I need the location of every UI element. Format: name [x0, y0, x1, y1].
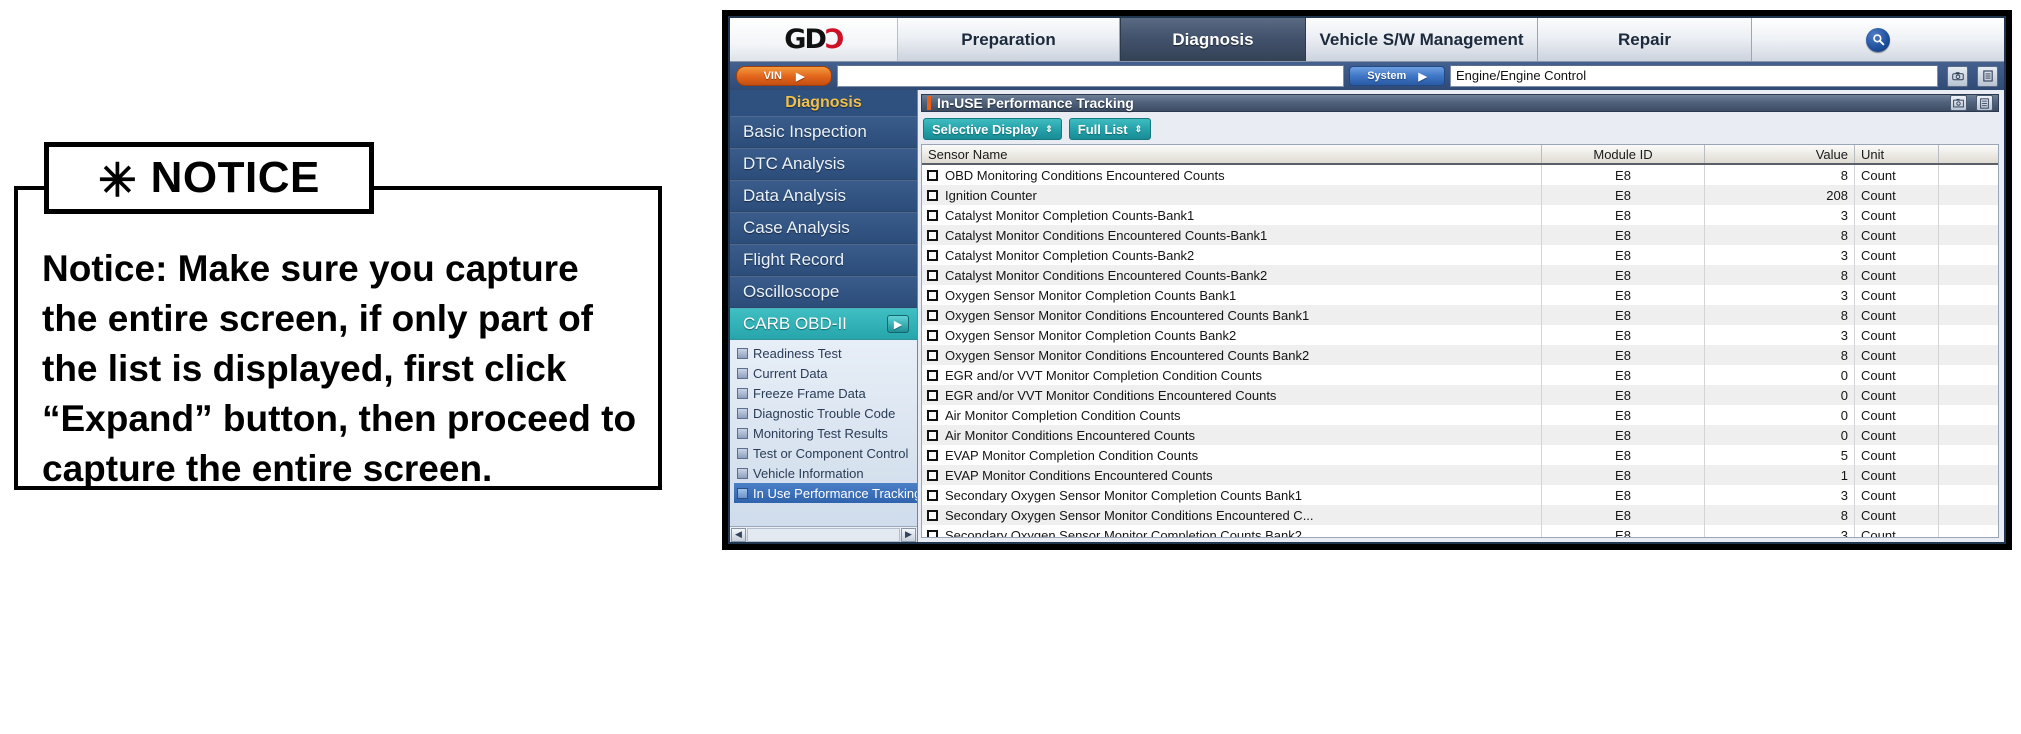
- row-checkbox[interactable]: [927, 170, 938, 181]
- sidebar-item-flight-record[interactable]: Flight Record: [730, 244, 917, 276]
- search-icon: [1866, 28, 1890, 52]
- table-row[interactable]: EGR and/or VVT Monitor Completion Condit…: [922, 365, 1998, 385]
- cell-sensor-name: Air Monitor Conditions Encountered Count…: [922, 425, 1542, 445]
- cell-unit: Count: [1855, 185, 1939, 205]
- sensor-name-label: Catalyst Monitor Conditions Encountered …: [945, 268, 1267, 283]
- table-row[interactable]: EGR and/or VVT Monitor Conditions Encoun…: [922, 385, 1998, 405]
- table-row[interactable]: Oxygen Sensor Monitor Completion Counts …: [922, 285, 1998, 305]
- sidebar-item-dtc-analysis[interactable]: DTC Analysis: [730, 148, 917, 180]
- cell-module-id: E8: [1542, 225, 1705, 245]
- table-row[interactable]: Catalyst Monitor Conditions Encountered …: [922, 265, 1998, 285]
- cell-unit: Count: [1855, 205, 1939, 225]
- cell-module-id: E8: [1542, 165, 1705, 185]
- row-checkbox[interactable]: [927, 210, 938, 221]
- cell-extra: [1939, 465, 1998, 485]
- cell-value: 3: [1705, 285, 1855, 305]
- table-row[interactable]: Air Monitor Conditions Encountered Count…: [922, 425, 1998, 445]
- vin-button-label: VIN: [764, 70, 782, 82]
- row-checkbox[interactable]: [927, 410, 938, 421]
- sidebar-subitem-label: Test or Component Control: [753, 446, 908, 461]
- sidebar-subitem-in-use-performance-tracking[interactable]: In Use Performance Tracking: [734, 483, 917, 503]
- cell-extra: [1939, 325, 1998, 345]
- notice-text: Notice: Make sure you capture the entire…: [42, 244, 642, 494]
- full-list-label: Full List: [1078, 122, 1128, 137]
- cell-value: 3: [1705, 245, 1855, 265]
- cell-module-id: E8: [1542, 345, 1705, 365]
- cell-sensor-name: Catalyst Monitor Conditions Encountered …: [922, 265, 1542, 285]
- cell-extra: [1939, 245, 1998, 265]
- cell-module-id: E8: [1542, 305, 1705, 325]
- cell-extra: [1939, 225, 1998, 245]
- cell-value: 3: [1705, 525, 1855, 537]
- sidebar-subitem-label: Readiness Test: [753, 346, 842, 361]
- tab-vehicle-sw-management[interactable]: Vehicle S/W Management: [1306, 18, 1538, 61]
- sidebar-item-case-analysis[interactable]: Case Analysis: [730, 212, 917, 244]
- scroll-right-icon[interactable]: ▶: [901, 528, 916, 542]
- cell-module-id: E8: [1542, 205, 1705, 225]
- cell-extra: [1939, 165, 1998, 185]
- cell-value: 8: [1705, 265, 1855, 285]
- row-checkbox[interactable]: [927, 270, 938, 281]
- table-row[interactable]: Catalyst Monitor Conditions Encountered …: [922, 225, 1998, 245]
- cell-unit: Count: [1855, 285, 1939, 305]
- cell-module-id: E8: [1542, 505, 1705, 525]
- scrollbar-track[interactable]: [747, 528, 900, 542]
- notice-callout: ✳ NOTICE Notice: Make sure you capture t…: [14, 186, 662, 490]
- cell-value: 3: [1705, 485, 1855, 505]
- cell-module-id: E8: [1542, 265, 1705, 285]
- asterisk-icon: ✳: [98, 160, 137, 200]
- sidebar-subitem-label: In Use Performance Tracking: [753, 486, 917, 501]
- sensor-name-label: Oxygen Sensor Monitor Completion Counts …: [945, 288, 1236, 303]
- sidebar-item-basic-inspection[interactable]: Basic Inspection: [730, 116, 917, 148]
- table-row[interactable]: Ignition CounterE8208Count: [922, 185, 1998, 205]
- cell-sensor-name: EVAP Monitor Conditions Encountered Coun…: [922, 465, 1542, 485]
- table-body: OBD Monitoring Conditions Encountered Co…: [922, 165, 1998, 537]
- cell-unit: Count: [1855, 505, 1939, 525]
- row-checkbox[interactable]: [927, 330, 938, 341]
- cell-value: 8: [1705, 505, 1855, 525]
- cell-sensor-name: EGR and/or VVT Monitor Conditions Encoun…: [922, 385, 1542, 405]
- cell-module-id: E8: [1542, 325, 1705, 345]
- sidebar-subitem-label: Diagnostic Trouble Code: [753, 406, 895, 421]
- cell-unit: Count: [1855, 385, 1939, 405]
- cell-unit: Count: [1855, 365, 1939, 385]
- cell-module-id: E8: [1542, 245, 1705, 265]
- row-checkbox[interactable]: [927, 510, 938, 521]
- cell-sensor-name: Oxygen Sensor Monitor Completion Counts …: [922, 285, 1542, 305]
- row-checkbox[interactable]: [927, 490, 938, 501]
- chevron-right-icon: ▶: [1418, 70, 1426, 83]
- sensor-name-label: Ignition Counter: [945, 188, 1037, 203]
- vin-system-bar: VIN ▶ System ▶ Engine/Engine Control: [730, 62, 2004, 90]
- sidebar-subitem-vehicle-information[interactable]: Vehicle Information: [734, 463, 917, 483]
- column-header-unit[interactable]: Unit: [1855, 145, 1939, 163]
- cell-unit: Count: [1855, 165, 1939, 185]
- cell-extra: [1939, 485, 1998, 505]
- sensor-name-label: OBD Monitoring Conditions Encountered Co…: [945, 168, 1225, 183]
- full-list-button[interactable]: Full List ⇕: [1069, 118, 1151, 140]
- cell-sensor-name: EGR and/or VVT Monitor Completion Condit…: [922, 365, 1542, 385]
- cell-sensor-name: Ignition Counter: [922, 185, 1542, 205]
- list-icon[interactable]: [1976, 95, 1993, 111]
- cell-value: 3: [1705, 325, 1855, 345]
- row-checkbox[interactable]: [927, 350, 938, 361]
- scroll-left-icon[interactable]: ◀: [731, 528, 746, 542]
- sidebar-item-carb-obd-ii[interactable]: CARB OBD-II ▶: [730, 308, 917, 340]
- cell-extra: [1939, 405, 1998, 425]
- stepper-icon: ⇕: [1135, 125, 1143, 134]
- cell-unit: Count: [1855, 325, 1939, 345]
- cell-extra: [1939, 305, 1998, 325]
- cell-unit: Count: [1855, 305, 1939, 325]
- row-checkbox[interactable]: [927, 310, 938, 321]
- cell-value: 8: [1705, 305, 1855, 325]
- snapshot-icon[interactable]: [1950, 95, 1967, 111]
- sensor-name-label: Catalyst Monitor Completion Counts-Bank2: [945, 248, 1194, 263]
- camera-icon[interactable]: [1947, 66, 1968, 87]
- cell-extra: [1939, 205, 1998, 225]
- table-row[interactable]: Catalyst Monitor Completion Counts-Bank1…: [922, 205, 1998, 225]
- cell-value: 0: [1705, 385, 1855, 405]
- sidebar-subitem-freeze-frame-data[interactable]: Freeze Frame Data: [734, 383, 917, 403]
- cell-module-id: E8: [1542, 185, 1705, 205]
- sidebar-subitem-label: Freeze Frame Data: [753, 386, 866, 401]
- panel-title: In-USE Performance Tracking: [937, 95, 1134, 111]
- sensor-name-label: Catalyst Monitor Completion Counts-Bank1: [945, 208, 1194, 223]
- table-row[interactable]: Oxygen Sensor Monitor Conditions Encount…: [922, 305, 1998, 325]
- row-checkbox[interactable]: [927, 470, 938, 481]
- row-checkbox[interactable]: [927, 450, 938, 461]
- cell-unit: Count: [1855, 525, 1939, 537]
- cell-extra: [1939, 285, 1998, 305]
- sidebar-subitem-test-or-component-control[interactable]: Test or Component Control: [734, 443, 917, 463]
- sensor-name-label: Oxygen Sensor Monitor Conditions Encount…: [945, 308, 1309, 323]
- notice-title: NOTICE: [151, 153, 320, 203]
- cell-module-id: E8: [1542, 525, 1705, 537]
- sensor-name-label: Catalyst Monitor Conditions Encountered …: [945, 228, 1267, 243]
- cell-module-id: E8: [1542, 425, 1705, 445]
- app-tab-bar: GDƆ Preparation Diagnosis Vehicle S/W Ma…: [730, 18, 2004, 62]
- sidebar-subitem-label: Current Data: [753, 366, 827, 381]
- cell-value: 8: [1705, 345, 1855, 365]
- cell-extra: [1939, 345, 1998, 365]
- cell-extra: [1939, 525, 1998, 537]
- system-button[interactable]: System ▶: [1349, 66, 1445, 86]
- table-row[interactable]: Oxygen Sensor Monitor Conditions Encount…: [922, 345, 1998, 365]
- gds-logo: GDƆ: [730, 18, 898, 61]
- table-row[interactable]: OBD Monitoring Conditions Encountered Co…: [922, 165, 1998, 185]
- cell-module-id: E8: [1542, 385, 1705, 405]
- cell-module-id: E8: [1542, 405, 1705, 425]
- page-icon: [737, 448, 748, 459]
- sensor-name-label: EGR and/or VVT Monitor Completion Condit…: [945, 368, 1262, 383]
- cell-unit: Count: [1855, 265, 1939, 285]
- sidebar: Diagnosis Basic Inspection DTC Analysis …: [730, 90, 918, 542]
- table-row[interactable]: EVAP Monitor Completion Condition Counts…: [922, 445, 1998, 465]
- tab-diagnosis[interactable]: Diagnosis: [1120, 18, 1306, 61]
- sidebar-item-data-analysis[interactable]: Data Analysis: [730, 180, 917, 212]
- sidebar-title: Diagnosis: [730, 90, 917, 116]
- column-header-sensor-name[interactable]: Sensor Name: [922, 145, 1542, 163]
- logo-accent: Ɔ: [825, 24, 843, 55]
- cell-value: 3: [1705, 205, 1855, 225]
- cell-value: 1: [1705, 465, 1855, 485]
- stepper-icon: ⇕: [1045, 125, 1053, 134]
- page-icon: [737, 408, 748, 419]
- sensor-name-label: Secondary Oxygen Sensor Monitor Conditio…: [945, 508, 1314, 523]
- page-icon: [737, 428, 748, 439]
- cell-module-id: E8: [1542, 465, 1705, 485]
- logo-text: GD: [784, 24, 825, 55]
- row-checkbox[interactable]: [927, 230, 938, 241]
- column-header-value[interactable]: Value: [1705, 145, 1855, 163]
- cell-sensor-name: OBD Monitoring Conditions Encountered Co…: [922, 165, 1542, 185]
- cell-extra: [1939, 185, 1998, 205]
- row-checkbox[interactable]: [927, 290, 938, 301]
- cell-unit: Count: [1855, 465, 1939, 485]
- cell-sensor-name: EVAP Monitor Completion Condition Counts: [922, 445, 1542, 465]
- cell-sensor-name: Secondary Oxygen Sensor Monitor Conditio…: [922, 505, 1542, 525]
- cell-unit: Count: [1855, 225, 1939, 245]
- sensor-name-label: Secondary Oxygen Sensor Monitor Completi…: [945, 488, 1302, 503]
- table-row[interactable]: Oxygen Sensor Monitor Completion Counts …: [922, 325, 1998, 345]
- sensor-name-label: EGR and/or VVT Monitor Conditions Encoun…: [945, 388, 1276, 403]
- cell-unit: Count: [1855, 425, 1939, 445]
- sensor-name-label: EVAP Monitor Conditions Encountered Coun…: [945, 468, 1213, 483]
- main-panel: In-USE Performance Tracking: [918, 90, 2004, 542]
- cell-sensor-name: Catalyst Monitor Conditions Encountered …: [922, 225, 1542, 245]
- selective-display-label: Selective Display: [932, 122, 1038, 137]
- table-row[interactable]: Air Monitor Completion Condition CountsE…: [922, 405, 1998, 425]
- sidebar-subitem-label: Vehicle Information: [753, 466, 864, 481]
- sensor-name-label: Secondary Oxygen Sensor Monitor Completi…: [945, 528, 1302, 538]
- cell-value: 8: [1705, 225, 1855, 245]
- cell-module-id: E8: [1542, 285, 1705, 305]
- vin-button[interactable]: VIN ▶: [736, 66, 832, 86]
- row-checkbox[interactable]: [927, 390, 938, 401]
- vin-input[interactable]: [837, 65, 1344, 87]
- cell-sensor-name: Air Monitor Completion Condition Counts: [922, 405, 1542, 425]
- cell-unit: Count: [1855, 445, 1939, 465]
- cell-sensor-name: Secondary Oxygen Sensor Monitor Completi…: [922, 485, 1542, 505]
- system-button-label: System: [1367, 70, 1406, 82]
- row-checkbox[interactable]: [927, 190, 938, 201]
- tab-preparation[interactable]: Preparation: [898, 18, 1120, 61]
- cell-value: 0: [1705, 405, 1855, 425]
- column-header-extra[interactable]: [1939, 145, 1998, 163]
- system-input[interactable]: Engine/Engine Control: [1450, 65, 1938, 87]
- page-icon: [737, 368, 748, 379]
- page-icon: [737, 388, 748, 399]
- cell-extra: [1939, 425, 1998, 445]
- cell-sensor-name: Secondary Oxygen Sensor Monitor Completi…: [922, 525, 1542, 537]
- row-checkbox[interactable]: [927, 530, 938, 538]
- sidebar-subitem-label: Monitoring Test Results: [753, 426, 888, 441]
- cell-module-id: E8: [1542, 445, 1705, 465]
- sidebar-item-label: CARB OBD-II: [743, 314, 847, 334]
- cell-extra: [1939, 445, 1998, 465]
- table-row[interactable]: Secondary Oxygen Sensor Monitor Conditio…: [922, 505, 1998, 525]
- cell-value: 208: [1705, 185, 1855, 205]
- selective-display-button[interactable]: Selective Display ⇕: [923, 118, 1062, 140]
- cell-value: 5: [1705, 445, 1855, 465]
- sidebar-subitem-readiness-test[interactable]: Readiness Test: [734, 343, 917, 363]
- sensor-name-label: Air Monitor Completion Condition Counts: [945, 408, 1181, 423]
- cell-extra: [1939, 385, 1998, 405]
- cell-module-id: E8: [1542, 485, 1705, 505]
- tab-search[interactable]: [1752, 18, 2004, 61]
- cell-extra: [1939, 505, 1998, 525]
- table-row[interactable]: EVAP Monitor Conditions Encountered Coun…: [922, 465, 1998, 485]
- sidebar-subitem-monitoring-test-results[interactable]: Monitoring Test Results: [734, 423, 917, 443]
- cell-sensor-name: Oxygen Sensor Monitor Conditions Encount…: [922, 305, 1542, 325]
- sensor-name-label: Oxygen Sensor Monitor Completion Counts …: [945, 328, 1236, 343]
- cell-module-id: E8: [1542, 365, 1705, 385]
- cell-sensor-name: Catalyst Monitor Completion Counts-Bank2: [922, 245, 1542, 265]
- tab-repair[interactable]: Repair: [1538, 18, 1752, 61]
- cell-sensor-name: Oxygen Sensor Monitor Completion Counts …: [922, 325, 1542, 345]
- sidebar-subitem-current-data[interactable]: Current Data: [734, 363, 917, 383]
- sensor-name-label: Air Monitor Conditions Encountered Count…: [945, 428, 1195, 443]
- cell-value: 0: [1705, 365, 1855, 385]
- sensor-table: Sensor Name Module ID Value Unit OBD Mon…: [921, 144, 1999, 538]
- app-body: Diagnosis Basic Inspection DTC Analysis …: [730, 90, 2004, 542]
- sidebar-subitem-diagnostic-trouble-code[interactable]: Diagnostic Trouble Code: [734, 403, 917, 423]
- cell-unit: Count: [1855, 485, 1939, 505]
- cell-unit: Count: [1855, 345, 1939, 365]
- row-checkbox[interactable]: [927, 250, 938, 261]
- table-header-row: Sensor Name Module ID Value Unit: [922, 145, 1998, 165]
- sensor-name-label: EVAP Monitor Completion Condition Counts: [945, 448, 1198, 463]
- row-checkbox[interactable]: [927, 370, 938, 381]
- notice-title-box: ✳ NOTICE: [44, 142, 374, 214]
- row-checkbox[interactable]: [927, 430, 938, 441]
- sidebar-horizontal-scrollbar[interactable]: ◀ ▶: [730, 526, 917, 542]
- cell-value: 8: [1705, 165, 1855, 185]
- panel-header: In-USE Performance Tracking: [921, 94, 1999, 112]
- gds-screenshot-window: GDƆ Preparation Diagnosis Vehicle S/W Ma…: [722, 10, 2012, 550]
- page-icon: [737, 348, 748, 359]
- cell-unit: Count: [1855, 405, 1939, 425]
- panel-accent-bar: [927, 96, 931, 110]
- cell-unit: Count: [1855, 245, 1939, 265]
- page-icon: [737, 468, 748, 479]
- table-row[interactable]: Catalyst Monitor Completion Counts-Bank2…: [922, 245, 1998, 265]
- panel-toolbar: Selective Display ⇕ Full List ⇕: [921, 112, 1999, 144]
- chevron-right-icon: ▶: [796, 70, 804, 83]
- sidebar-item-oscilloscope[interactable]: Oscilloscope: [730, 276, 917, 308]
- page-icon: [737, 488, 748, 499]
- table-row[interactable]: Secondary Oxygen Sensor Monitor Completi…: [922, 525, 1998, 537]
- cell-extra: [1939, 265, 1998, 285]
- note-icon[interactable]: [1977, 66, 1998, 87]
- gds-app: GDƆ Preparation Diagnosis Vehicle S/W Ma…: [728, 16, 2006, 544]
- cell-extra: [1939, 365, 1998, 385]
- cell-value: 0: [1705, 425, 1855, 445]
- cell-sensor-name: Oxygen Sensor Monitor Conditions Encount…: [922, 345, 1542, 365]
- sidebar-sublist: Readiness Test Current Data Freeze Frame…: [730, 340, 917, 526]
- sensor-name-label: Oxygen Sensor Monitor Conditions Encount…: [945, 348, 1309, 363]
- cell-sensor-name: Catalyst Monitor Completion Counts-Bank1: [922, 205, 1542, 225]
- chevron-right-icon: ▶: [887, 315, 909, 333]
- table-row[interactable]: Secondary Oxygen Sensor Monitor Completi…: [922, 485, 1998, 505]
- column-header-module-id[interactable]: Module ID: [1542, 145, 1705, 163]
